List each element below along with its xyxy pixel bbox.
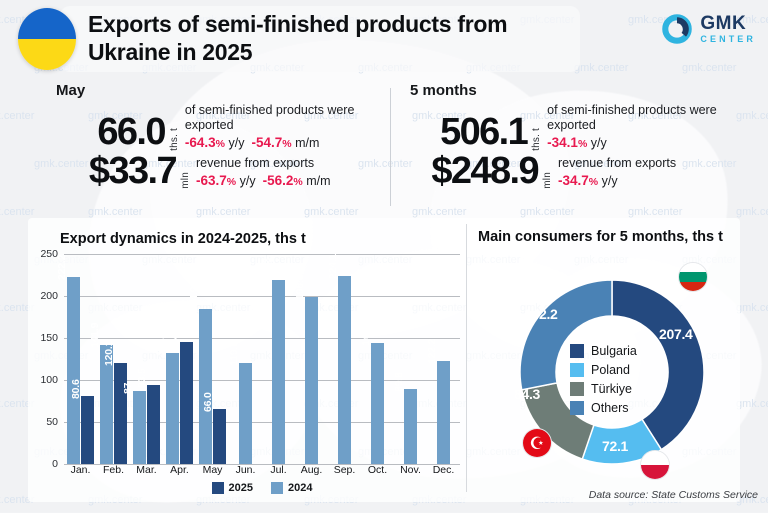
- bar-2024: 224.1: [338, 276, 351, 464]
- legend-label: Others: [591, 401, 629, 415]
- bar-chart-section: Export dynamics in 2024-2025, ths t 0501…: [28, 222, 468, 502]
- bar-group: 8793.5: [130, 254, 163, 464]
- kpi-volume-desc: of semi-finished products were exported: [547, 103, 750, 134]
- bar-value-label: 119.8: [228, 342, 240, 367]
- bar-value-label: 66.0: [202, 392, 214, 412]
- bar-chart-legend: 20252024: [64, 482, 460, 494]
- kpi-volume-deltas: -64.3% y/y-54.7% m/m: [185, 135, 386, 150]
- legend-label: Poland: [591, 363, 630, 377]
- legend-swatch: [570, 344, 584, 358]
- donut-chart-title: Main consumers for 5 months, ths t: [478, 228, 733, 246]
- bar-group: 132.1145.8: [163, 254, 196, 464]
- legend-item-2025[interactable]: 2025: [212, 482, 253, 494]
- donut-legend-item-türkiye[interactable]: Türkiye: [570, 382, 637, 396]
- bar-value-label: 224.1: [327, 253, 339, 278]
- kpi-delta-basis: y/y: [591, 136, 607, 150]
- bar-value-label: 141.9: [89, 323, 101, 348]
- kpi-delta-sign: %: [227, 176, 236, 188]
- bar-value-label: 89.8: [393, 372, 405, 392]
- turkiye-flag-icon: ☪: [522, 428, 552, 458]
- gmk-logo-icon: [662, 14, 692, 44]
- kpi-revenue-row: $248.9 mln revenue from exports -34.7% y…: [410, 153, 750, 189]
- kpi-delta-sign: %: [293, 176, 302, 188]
- bar-group: 144.1: [361, 254, 394, 464]
- bar-value-label: 122.2: [426, 339, 438, 364]
- bar-group: 219.3: [262, 254, 295, 464]
- kpi-revenue-value: $248.9: [410, 153, 538, 189]
- y-axis-tick: 150: [40, 332, 58, 344]
- x-axis-tick: Dec.: [427, 464, 460, 476]
- kpi-delta-basis: y/y: [229, 136, 245, 150]
- x-axis-tick: Mar.: [130, 464, 163, 476]
- donut-legend-item-others[interactable]: Others: [570, 401, 637, 415]
- donut-label-others: 142.2: [524, 306, 558, 322]
- bar-group: 198.5: [295, 254, 328, 464]
- donut-chart-legend: BulgariaPolandTürkiyeOthers: [570, 344, 637, 415]
- donut-label-bulgaria: 207.4: [659, 326, 693, 342]
- kpi-volume-row: 66.0 ths. t of semi-finished products we…: [56, 103, 386, 151]
- x-axis-tick: May: [196, 464, 229, 476]
- poland-flag-icon: [640, 450, 670, 480]
- kpi-volume-unit: ths. t: [170, 126, 180, 151]
- bar-chart-plot: 050100150200250 222.280.6141.9120.18793.…: [64, 254, 460, 464]
- x-axis-tick: Aug.: [295, 464, 328, 476]
- bar-groups: 222.280.6141.9120.18793.5132.1145.8184.9…: [64, 254, 460, 464]
- x-axis-tick: Oct.: [361, 464, 394, 476]
- kpi-delta-basis: y/y: [602, 174, 618, 188]
- bar-group: 141.9120.1: [97, 254, 130, 464]
- bar-value-label: 198.5: [294, 275, 306, 300]
- kpi-volume-value: 506.1: [410, 114, 527, 150]
- kpi-period-label: May: [56, 82, 386, 99]
- bar-value-label: 184.9: [188, 286, 200, 311]
- x-axis-tick: Sep.: [328, 464, 361, 476]
- header: Exports of semi-finished products from U…: [0, 0, 768, 78]
- legend-label: 2025: [229, 482, 253, 494]
- bar-value-label: 222.2: [56, 255, 68, 280]
- kpi-revenue-unit: mln: [543, 170, 553, 189]
- x-axis-tick: Nov.: [394, 464, 427, 476]
- donut-label-turkiye: 84.3: [514, 386, 540, 402]
- legend-swatch: [570, 401, 584, 415]
- kpi-revenue-deltas: -34.7% y/y: [558, 173, 676, 188]
- bar-2025: 93.5: [147, 385, 160, 464]
- kpi-delta-value: -34.1: [547, 135, 578, 150]
- bar-value-label: 87: [122, 383, 134, 394]
- kpi-delta-basis: y/y: [240, 174, 256, 188]
- kpi-delta-basis: m/m: [306, 174, 330, 188]
- bar-value-label: 145.8: [169, 319, 181, 344]
- donut-legend-item-bulgaria[interactable]: Bulgaria: [570, 344, 637, 358]
- x-axis-tick: Jan.: [64, 464, 97, 476]
- kpi-volume-deltas: -34.1% y/y: [547, 135, 750, 150]
- bar-value-label: 80.6: [70, 380, 82, 400]
- gmk-center-logo[interactable]: GMK CENTER: [662, 14, 756, 44]
- kpi-volume-row: 506.1 ths. t of semi-finished products w…: [410, 103, 750, 151]
- kpi-delta-value: -63.7: [196, 173, 227, 188]
- y-axis-tick: 100: [40, 374, 58, 386]
- bar-value-label: 120.1: [103, 341, 115, 366]
- kpi-revenue-unit: mln: [181, 170, 191, 189]
- legend-label: 2024: [288, 482, 312, 494]
- kpi-delta-basis: m/m: [295, 136, 319, 150]
- bar-2024: 122.2: [437, 361, 450, 464]
- bar-2025: 80.6: [81, 396, 94, 464]
- y-axis-tick: 50: [46, 416, 58, 428]
- bar-value-label: 144.1: [360, 321, 372, 346]
- bar-2024: 144.1: [371, 343, 384, 464]
- kpi-revenue-deltas: -63.7% y/y-56.2% m/m: [196, 173, 331, 188]
- bar-group: 122.2: [427, 254, 460, 464]
- kpi-delta-sign: %: [216, 138, 225, 150]
- bar-2024: 198.5: [305, 297, 318, 464]
- legend-swatch: [570, 382, 584, 396]
- data-source-note: Data source: State Customs Service: [589, 489, 758, 501]
- kpi-volume-unit: ths. t: [532, 126, 542, 151]
- x-axis-tick: Jun.: [229, 464, 262, 476]
- bar-group: 224.1: [328, 254, 361, 464]
- ukraine-flag-icon: [18, 8, 76, 70]
- bar-2024: 119.8: [239, 363, 252, 464]
- kpi-delta-sign: %: [282, 138, 291, 150]
- legend-swatch: [570, 363, 584, 377]
- bar-group: 184.966.0: [196, 254, 229, 464]
- kpi-group-five-months: 5 months 506.1 ths. t of semi-finished p…: [410, 82, 750, 212]
- kpi-period-label: 5 months: [410, 82, 750, 99]
- bar-group: 119.8: [229, 254, 262, 464]
- bar-2025: 66.0: [213, 409, 226, 464]
- kpi-band: May 66.0 ths. t of semi-finished product…: [0, 82, 768, 212]
- donut-chart-section: Main consumers for 5 months, ths t 207.4…: [470, 222, 768, 512]
- bar-value-label: 93.5: [136, 369, 148, 389]
- bar-2024: 222.2: [67, 277, 80, 464]
- kpi-volume-value: 66.0: [56, 114, 165, 150]
- kpi-delta-sign: %: [589, 176, 598, 188]
- y-axis-tick: 0: [52, 458, 58, 470]
- logo-wordmark: GMK: [700, 14, 756, 33]
- legend-label: Bulgaria: [591, 344, 637, 358]
- bar-2024: 89.8: [404, 389, 417, 464]
- bar-2024: 87: [133, 391, 146, 464]
- logo-subtitle: CENTER: [700, 35, 756, 44]
- kpi-revenue-desc: revenue from exports: [196, 156, 331, 171]
- kpi-divider: [390, 88, 391, 206]
- kpi-delta-value: -34.7: [558, 173, 589, 188]
- donut-chart: 207.4 72.1 84.3 142.2 BulgariaPolandTürk…: [506, 266, 718, 478]
- bar-group: 89.8: [394, 254, 427, 464]
- page-title: Exports of semi-finished products from U…: [88, 10, 588, 66]
- x-axis-tick: Jul.: [262, 464, 295, 476]
- kpi-revenue-desc: revenue from exports: [558, 156, 676, 171]
- y-axis-tick: 200: [40, 290, 58, 302]
- bar-chart-title: Export dynamics in 2024-2025, ths t: [60, 230, 306, 248]
- kpi-revenue-value: $33.7: [56, 153, 176, 189]
- legend-swatch: [212, 482, 224, 494]
- bar-2024: 184.9: [199, 309, 212, 464]
- x-axis-tick: Apr.: [163, 464, 196, 476]
- bar-group: 222.280.6: [64, 254, 97, 464]
- legend-label: Türkiye: [591, 382, 632, 396]
- legend-swatch: [271, 482, 283, 494]
- bulgaria-flag-icon: [678, 262, 708, 292]
- kpi-delta-value: -54.7: [251, 135, 282, 150]
- x-axis-tick: Feb.: [97, 464, 130, 476]
- kpi-delta-sign: %: [578, 138, 587, 150]
- bar-2024: 132.1: [166, 353, 179, 464]
- kpi-delta-value: -64.3: [185, 135, 216, 150]
- kpi-revenue-row: $33.7 mln revenue from exports -63.7% y/…: [56, 153, 386, 189]
- bar-value-label: 132.1: [155, 331, 167, 356]
- kpi-volume-desc: of semi-finished products were exported: [185, 103, 386, 134]
- bar-2025: 145.8: [180, 342, 193, 464]
- donut-legend-item-poland[interactable]: Poland: [570, 363, 637, 377]
- x-axis-labels: Jan.Feb.Mar.Apr.MayJun.Jul.Aug.Sep.Oct.N…: [64, 464, 460, 476]
- donut-label-poland: 72.1: [602, 438, 628, 454]
- kpi-delta-value: -56.2: [263, 173, 294, 188]
- bar-2024: 219.3: [272, 280, 285, 464]
- kpi-group-may: May 66.0 ths. t of semi-finished product…: [56, 82, 386, 212]
- legend-item-2024[interactable]: 2024: [271, 482, 312, 494]
- bar-value-label: 219.3: [261, 258, 273, 283]
- bar-2025: 120.1: [114, 363, 127, 464]
